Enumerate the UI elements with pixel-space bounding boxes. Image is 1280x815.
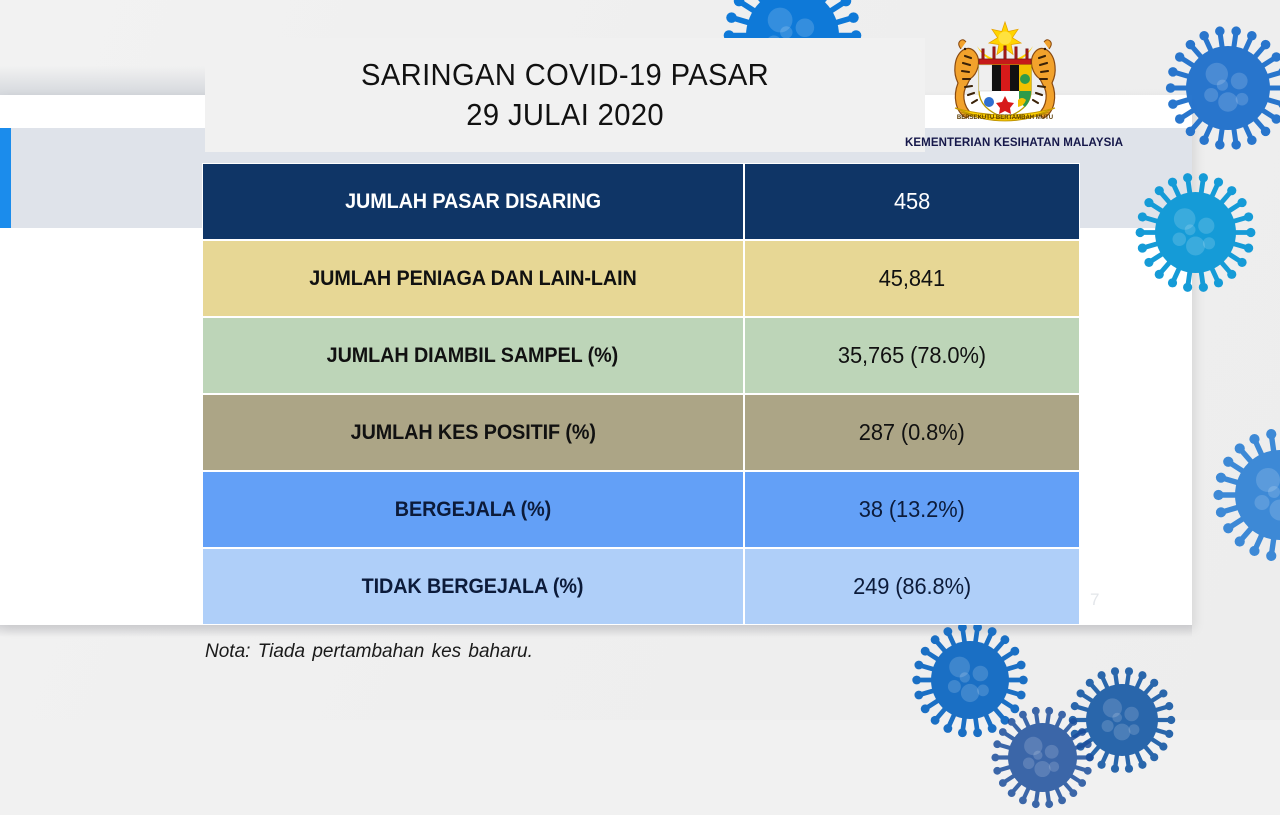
table-row: JUMLAH PENIAGA DAN LAIN-LAIN45,841 [202, 240, 1080, 317]
page-title-line-1: SARINGAN COVID-19 PASAR [361, 55, 769, 95]
table-row: TIDAK BERGEJALA (%)249 (86.8%) [202, 548, 1080, 625]
page-title-line-2: 29 JULAI 2020 [466, 95, 664, 135]
table-row: JUMLAH DIAMBIL SAMPEL (%)35,765 (78.0%) [202, 317, 1080, 394]
table-cell-value: 45,841 [744, 240, 1080, 317]
table-row: BERGEJALA (%)38 (13.2%) [202, 471, 1080, 548]
row-value-text: 249 (86.8%) [853, 573, 971, 600]
table-row: JUMLAH PASAR DISARING458 [202, 163, 1080, 240]
slide-title-box: SARINGAN COVID-19 PASAR 29 JULAI 2020 [205, 38, 925, 152]
table-cell-value: 458 [744, 163, 1080, 240]
header-band-accent-bar [0, 128, 11, 228]
table-cell-value: 287 (0.8%) [744, 394, 1080, 471]
row-label-text: JUMLAH KES POSITIF (%) [350, 420, 595, 445]
row-label-text: JUMLAH DIAMBIL SAMPEL (%) [327, 343, 618, 368]
row-label-text: BERGEJALA (%) [395, 497, 551, 522]
row-value-text: 458 [894, 188, 930, 215]
svg-text:BERSEKUTU BERTAMBAH MUTU: BERSEKUTU BERTAMBAH MUTU [957, 115, 1053, 121]
table-cell-label: JUMLAH DIAMBIL SAMPEL (%) [202, 317, 744, 394]
screening-stats-table: JUMLAH PASAR DISARING458JUMLAH PENIAGA D… [202, 163, 1080, 625]
row-value-text: 45,841 [879, 265, 945, 292]
table-body: JUMLAH PASAR DISARING458JUMLAH PENIAGA D… [202, 163, 1080, 625]
table-cell-label: TIDAK BERGEJALA (%) [202, 548, 744, 625]
row-value-text: 35,765 (78.0%) [838, 342, 986, 369]
table-row: JUMLAH KES POSITIF (%)287 (0.8%) [202, 394, 1080, 471]
row-value-text: 38 (13.2%) [859, 496, 965, 523]
footer-note: Nota: Tiada pertambahan kes baharu. [205, 641, 533, 663]
table-cell-label: JUMLAH KES POSITIF (%) [202, 394, 744, 471]
table-cell-label: JUMLAH PASAR DISARING [202, 163, 744, 240]
top-gradient-band [0, 66, 206, 96]
panel-bottom-shadow [0, 625, 1192, 637]
row-label-text: TIDAK BERGEJALA (%) [362, 574, 584, 599]
row-value-text: 287 (0.8%) [859, 419, 965, 446]
row-label-text: JUMLAH PASAR DISARING [345, 189, 601, 214]
ministry-name-label: KEMENTERIAN KESIHATAN MALAYSIA [905, 137, 1105, 149]
row-label-text: JUMLAH PENIAGA DAN LAIN-LAIN [309, 266, 636, 291]
table-cell-label: JUMLAH PENIAGA DAN LAIN-LAIN [202, 240, 744, 317]
table-cell-label: BERGEJALA (%) [202, 471, 744, 548]
page-number: 7 [1090, 590, 1099, 610]
ministry-logo-block: BERSEKUTU BERTAMBAH MUTU KEMENTERIAN KES… [905, 16, 1105, 149]
malaysia-coat-of-arms-icon: BERSEKUTU BERTAMBAH MUTU [905, 16, 1105, 136]
table-cell-value: 249 (86.8%) [744, 548, 1080, 625]
table-cell-value: 38 (13.2%) [744, 471, 1080, 548]
table-cell-value: 35,765 (78.0%) [744, 317, 1080, 394]
